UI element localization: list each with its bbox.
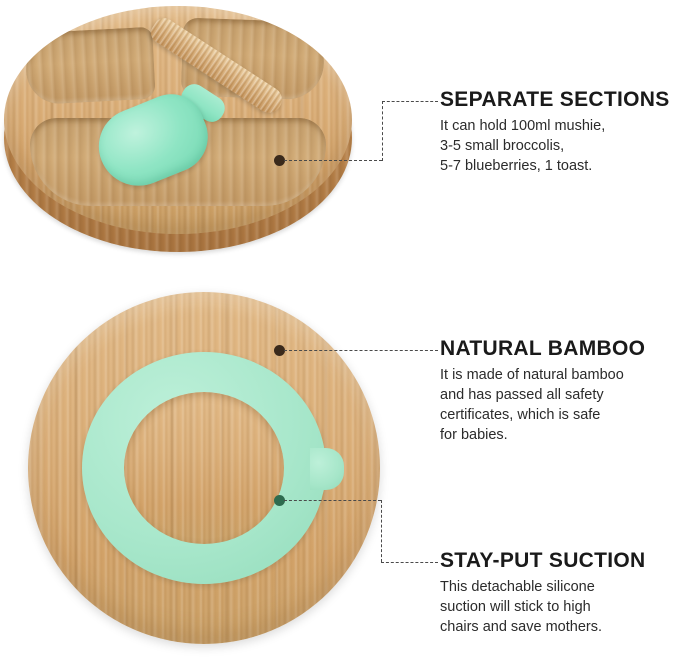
suction-pull-tab xyxy=(310,448,344,490)
callout-natural-bamboo: NATURAL BAMBOO It is made of natural bam… xyxy=(440,337,645,445)
callout-separate-sections: SEPARATE SECTIONS It can hold 100ml mush… xyxy=(440,88,670,176)
panel-sectioned-plate xyxy=(0,0,400,280)
callout-title-separate-sections: SEPARATE SECTIONS xyxy=(440,88,670,111)
callout-body-natural-bamboo: It is made of natural bamboo and has pas… xyxy=(440,365,645,445)
bamboo-plate-underside xyxy=(28,292,380,644)
callout-line: and has passed all safety xyxy=(440,385,645,405)
callout-line: chairs and save mothers. xyxy=(440,617,646,637)
leader-line-1-segment-v xyxy=(382,101,383,161)
callout-line: It is made of natural bamboo xyxy=(440,365,645,385)
leader-line-3-segment-h1 xyxy=(284,500,381,501)
callout-body-separate-sections: It can hold 100ml mushie, 3-5 small broc… xyxy=(440,116,670,176)
product-infographic: SEPARATE SECTIONS It can hold 100ml mush… xyxy=(0,0,679,658)
callout-stay-put-suction: STAY-PUT SUCTION This detachable silicon… xyxy=(440,549,646,637)
bamboo-plate-top xyxy=(4,6,352,254)
callout-title-natural-bamboo: NATURAL BAMBOO xyxy=(440,337,645,360)
callout-line: for babies. xyxy=(440,425,645,445)
leader-line-3-segment-h2 xyxy=(381,562,438,563)
leader-line-2-segment-h xyxy=(284,350,438,351)
leader-line-3-segment-v xyxy=(381,500,382,562)
leader-line-1-segment-h1 xyxy=(284,160,382,161)
panel-plate-underside xyxy=(0,280,400,658)
callout-line: It can hold 100ml mushie, xyxy=(440,116,670,136)
callout-title-stay-put-suction: STAY-PUT SUCTION xyxy=(440,549,646,572)
callout-line: This detachable silicone xyxy=(440,577,646,597)
callout-line: suction will stick to high xyxy=(440,597,646,617)
callout-line: 3-5 small broccolis, xyxy=(440,136,670,156)
silicone-spoon xyxy=(62,10,302,186)
callout-body-stay-put-suction: This detachable silicone suction will st… xyxy=(440,577,646,637)
callout-line: certificates, which is safe xyxy=(440,405,645,425)
callout-line: 5-7 blueberries, 1 toast. xyxy=(440,156,670,176)
leader-line-1-segment-h2 xyxy=(382,101,438,102)
silicone-suction-ring xyxy=(82,352,326,584)
suction-ring-inner-opening xyxy=(124,392,284,544)
